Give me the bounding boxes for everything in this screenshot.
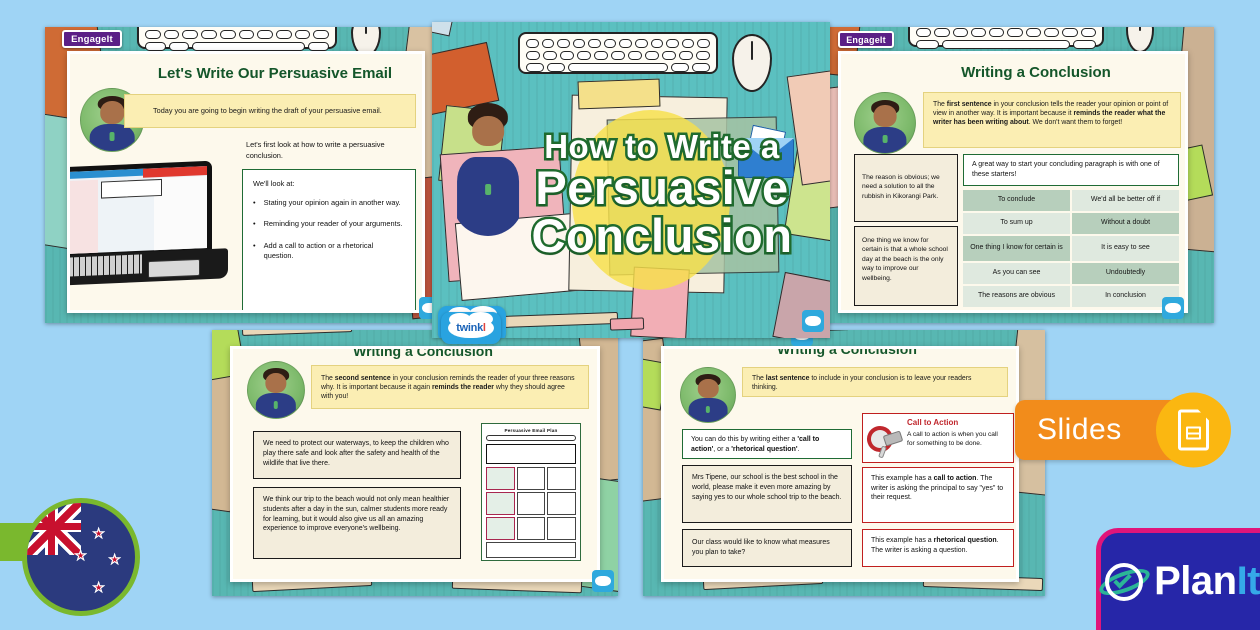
persuasive-email-plan-worksheet[interactable]: Persuasive Email Plan bbox=[481, 423, 581, 561]
southern-cross-star: ★ bbox=[91, 579, 106, 596]
title-line-2: Persuasive bbox=[502, 164, 822, 212]
starter-cell[interactable]: One thing I know for certain is bbox=[963, 236, 1070, 261]
intro-bold-1: first sentence bbox=[947, 101, 992, 108]
example-box-2: Our class would like to know what measur… bbox=[682, 529, 852, 567]
planit-word-plan: Plan bbox=[1154, 559, 1236, 603]
slides-badge-label: Slides bbox=[1037, 413, 1122, 447]
table-row: As you can see Undoubtedly bbox=[963, 263, 1179, 284]
starter-cell[interactable]: The reasons are obvious bbox=[963, 286, 1070, 307]
call-to-action-body: A call to action is when you call for so… bbox=[907, 431, 1007, 449]
explanation-bold: rhetorical question bbox=[934, 537, 997, 544]
sentence-starters-table: To conclude We'd all be better off if To… bbox=[963, 190, 1179, 307]
slide-sheet: Let's Write Our Persuasive Email Today y… bbox=[67, 51, 425, 313]
slide-writing-a-conclusion-last-sentence[interactable]: Writing a Conclusion The last sentence t… bbox=[643, 330, 1045, 596]
worksheet-conclusion-box bbox=[486, 542, 576, 558]
slide-sheet: Writing a Conclusion The second sentence… bbox=[230, 346, 600, 582]
worksheet-name-line bbox=[486, 435, 576, 441]
twinkl-watermark-icon bbox=[802, 310, 824, 332]
intro-pre: The bbox=[752, 375, 766, 382]
bullet-dot-icon: • bbox=[253, 219, 256, 229]
worksheet-row bbox=[486, 492, 576, 515]
intro-bold-1: second sentence bbox=[335, 375, 391, 382]
explanation-box-2: This example has a rhetorical question. … bbox=[862, 529, 1014, 567]
planit-badge[interactable]: PlanIt bbox=[1096, 528, 1260, 630]
table-row: One thing I know for certain is It is ea… bbox=[963, 236, 1179, 261]
intro-pre: The bbox=[933, 101, 947, 108]
call-to-action-box: Call to Action A call to action is when … bbox=[862, 413, 1014, 463]
title-line-3: Conclusion bbox=[502, 212, 822, 260]
new-zealand-flag-badge[interactable]: ★ ★ ★ ★ bbox=[22, 498, 140, 616]
avatar bbox=[247, 361, 305, 419]
example-box-2: One thing we know for certain is that a … bbox=[854, 226, 958, 306]
planit-wordmark: PlanIt bbox=[1154, 559, 1260, 604]
planit-logo-icon bbox=[1101, 559, 1145, 605]
starter-cell[interactable]: We'd all be better off if bbox=[1072, 190, 1179, 211]
explanation-pre: This example has a bbox=[871, 537, 934, 544]
worksheet-row bbox=[486, 467, 576, 490]
page-title: Writing a Conclusion bbox=[712, 346, 982, 357]
intro-bold-2: reminds the reader bbox=[432, 384, 494, 391]
intro-callout: Today you are going to begin writing the… bbox=[124, 94, 416, 128]
twinkl-word-part1: twink bbox=[456, 322, 483, 334]
example-box-1: The reason is obvious; we need a solutio… bbox=[854, 154, 958, 222]
intro-callout: The second sentence in your conclusion r… bbox=[311, 365, 589, 409]
eraser-bottom bbox=[610, 317, 644, 330]
explanation-box-1: This example has a call to action. The w… bbox=[862, 467, 1014, 523]
table-row: To conclude We'd all be better off if bbox=[963, 190, 1179, 211]
avatar bbox=[680, 367, 736, 423]
intro-callout: The last sentence to include in your con… bbox=[742, 367, 1008, 397]
method-mid: , or a bbox=[713, 446, 731, 453]
intro-bold-1: last sentence bbox=[766, 375, 810, 382]
intro-pre: The bbox=[321, 375, 335, 382]
worksheet-title: Persuasive Email Plan bbox=[486, 428, 576, 433]
method-box: You can do this by writing either a 'cal… bbox=[682, 429, 852, 459]
bullet-dot-icon: • bbox=[253, 241, 256, 261]
desk-paper-yellow-tab bbox=[578, 79, 661, 110]
starter-cell[interactable]: To conclude bbox=[963, 190, 1070, 211]
page-title: Writing a Conclusion bbox=[293, 346, 553, 359]
intro-callout: The first sentence in your conclusion te… bbox=[923, 92, 1181, 148]
slide-title-how-to-write-a-persuasive-conclusion[interactable]: How to Write a Persuasive Conclusion twi… bbox=[432, 22, 830, 338]
starter-cell[interactable]: It is easy to see bbox=[1072, 236, 1179, 261]
bullet-text: Add a call to action or a rhetorical que… bbox=[264, 241, 405, 261]
southern-cross-star: ★ bbox=[107, 551, 122, 568]
southern-cross-star: ★ bbox=[91, 525, 106, 542]
starter-prompt-box: A great way to start your concluding par… bbox=[963, 154, 1179, 186]
title-text: How to Write a Persuasive Conclusion bbox=[502, 130, 822, 260]
slide-writing-a-conclusion-second-sentence[interactable]: Writing a Conclusion The second sentence… bbox=[212, 330, 618, 596]
bullet-text: Stating your opinion again in another wa… bbox=[264, 198, 401, 208]
starter-cell[interactable]: As you can see bbox=[963, 263, 1070, 284]
keyboard-icon bbox=[908, 27, 1104, 47]
intro-end: . We don't want them to forget! bbox=[1029, 119, 1123, 126]
starter-cell[interactable]: Without a doubt bbox=[1072, 213, 1179, 234]
twinkl-logo-secondary[interactable]: twinkl bbox=[441, 312, 501, 344]
method-bold-2: 'rhetorical question' bbox=[731, 446, 797, 453]
slides-badge[interactable]: Slides bbox=[1015, 400, 1203, 460]
method-end: . bbox=[798, 446, 800, 453]
avatar bbox=[854, 92, 916, 154]
bullet-dot-icon: • bbox=[253, 198, 256, 208]
slide-sheet: Writing a Conclusion The last sentence t… bbox=[661, 346, 1019, 582]
example-box-2: We think our trip to the beach would not… bbox=[253, 487, 461, 559]
call-to-action-heading: Call to Action bbox=[907, 418, 1007, 429]
screenshot-canvas: Let's Write Our Persuasive Email Today y… bbox=[0, 0, 1260, 630]
twinkl-word-part2: l bbox=[483, 322, 486, 334]
method-pre: You can do this by writing either a bbox=[691, 436, 797, 443]
worksheet-row bbox=[486, 517, 576, 540]
table-row: To sum up Without a doubt bbox=[963, 213, 1179, 234]
example-box-1: Mrs Tipene, our school is the best schoo… bbox=[682, 465, 852, 523]
slide-sheet: Writing a Conclusion The first sentence … bbox=[838, 51, 1188, 313]
title-line-1: How to Write a bbox=[502, 130, 822, 164]
engage-it-badge[interactable]: EngageIt bbox=[838, 31, 894, 48]
keyboard-icon bbox=[137, 27, 337, 49]
example-box-1: We need to protect our waterways, to kee… bbox=[253, 431, 461, 479]
slide-writing-a-conclusion-first-sentence[interactable]: Writing a Conclusion The first sentence … bbox=[826, 27, 1214, 323]
twinkl-watermark-icon bbox=[592, 570, 614, 592]
look-at-box: We'll look at: • Stating your opinion ag… bbox=[242, 169, 416, 313]
keyboard-icon bbox=[518, 32, 718, 74]
lead-in-text: Let's first look at how to write a persu… bbox=[246, 140, 414, 161]
slide-lets-write-our-persuasive-email[interactable]: Let's Write Our Persuasive Email Today y… bbox=[45, 27, 445, 323]
worksheet-opinion-box bbox=[486, 444, 576, 464]
slides-document-icon bbox=[1156, 393, 1231, 468]
bullet-text: Reminding your reader of your arguments. bbox=[264, 219, 403, 229]
southern-cross-star: ★ bbox=[73, 547, 88, 564]
twinkl-watermark-icon bbox=[1162, 297, 1184, 319]
table-row: The reasons are obvious In conclusion bbox=[963, 286, 1179, 307]
planit-word-it: It bbox=[1237, 559, 1260, 603]
megaphone-icon bbox=[867, 422, 907, 460]
starter-cell[interactable]: Undoubtedly bbox=[1072, 263, 1179, 284]
explanation-bold: call to action bbox=[934, 475, 977, 482]
starter-cell[interactable]: To sum up bbox=[963, 213, 1070, 234]
page-title: Let's Write Our Persuasive Email bbox=[130, 65, 420, 82]
explanation-pre: This example has a bbox=[871, 475, 934, 482]
twinkl-wordmark: twinkl bbox=[456, 322, 485, 334]
engage-it-badge[interactable]: EngageIt bbox=[62, 30, 122, 48]
page-title: Writing a Conclusion bbox=[901, 64, 1171, 81]
list-heading: We'll look at: bbox=[253, 179, 405, 189]
